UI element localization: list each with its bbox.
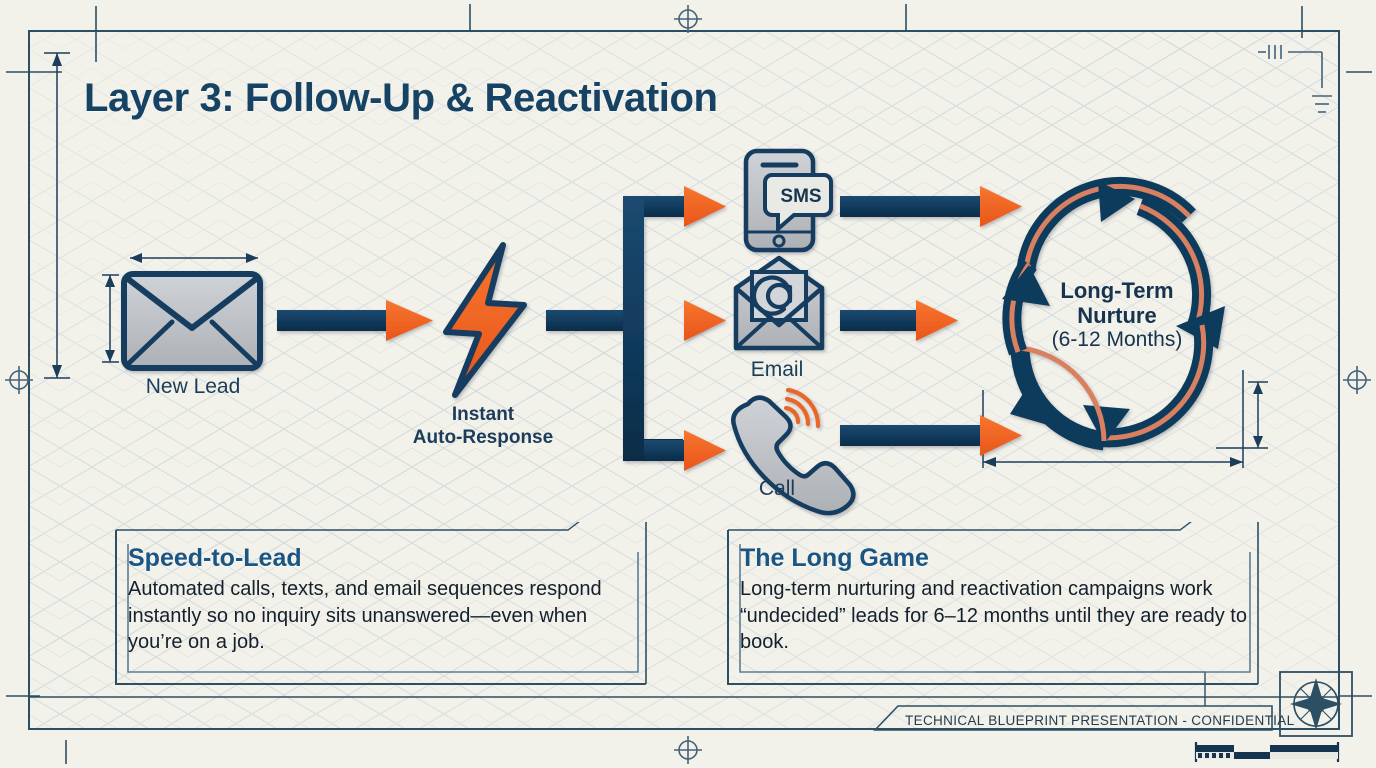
- card-title: Speed-to-Lead: [128, 544, 640, 573]
- page-title: Layer 3: Follow-Up & Reactivation: [84, 76, 718, 121]
- nurture-line3: (6-12 Months): [1027, 328, 1207, 352]
- label-long-term-nurture: Long-Term Nurture (6-12 Months): [1027, 278, 1207, 352]
- label-instant-auto-response: Instant Auto-Response: [383, 403, 583, 449]
- blueprint-slide: SMS: [0, 0, 1376, 768]
- nurture-line1: Long-Term: [1027, 278, 1207, 303]
- card-text: Long-term nurturing and reactivation cam…: [740, 576, 1252, 656]
- nurture-line2: Nurture: [1027, 303, 1207, 328]
- card-text: Automated calls, texts, and email sequen…: [128, 576, 640, 656]
- label-new-lead: New Lead: [128, 375, 258, 399]
- label-instant-line2: Auto-Response: [413, 427, 553, 448]
- info-card-speed-to-lead: Speed-to-Lead Automated calls, texts, an…: [98, 522, 668, 692]
- info-card-the-long-game: The Long Game Long-term nurturing and re…: [710, 522, 1280, 692]
- scale-bar-icon: [1196, 742, 1338, 762]
- label-instant-line1: Instant: [452, 404, 514, 425]
- card-title: The Long Game: [740, 544, 1252, 573]
- footer-confidential-label: TECHNICAL BLUEPRINT PRESENTATION - CONFI…: [905, 713, 1295, 728]
- label-channel-email: Email: [717, 358, 837, 382]
- label-channel-call: Call: [717, 477, 837, 501]
